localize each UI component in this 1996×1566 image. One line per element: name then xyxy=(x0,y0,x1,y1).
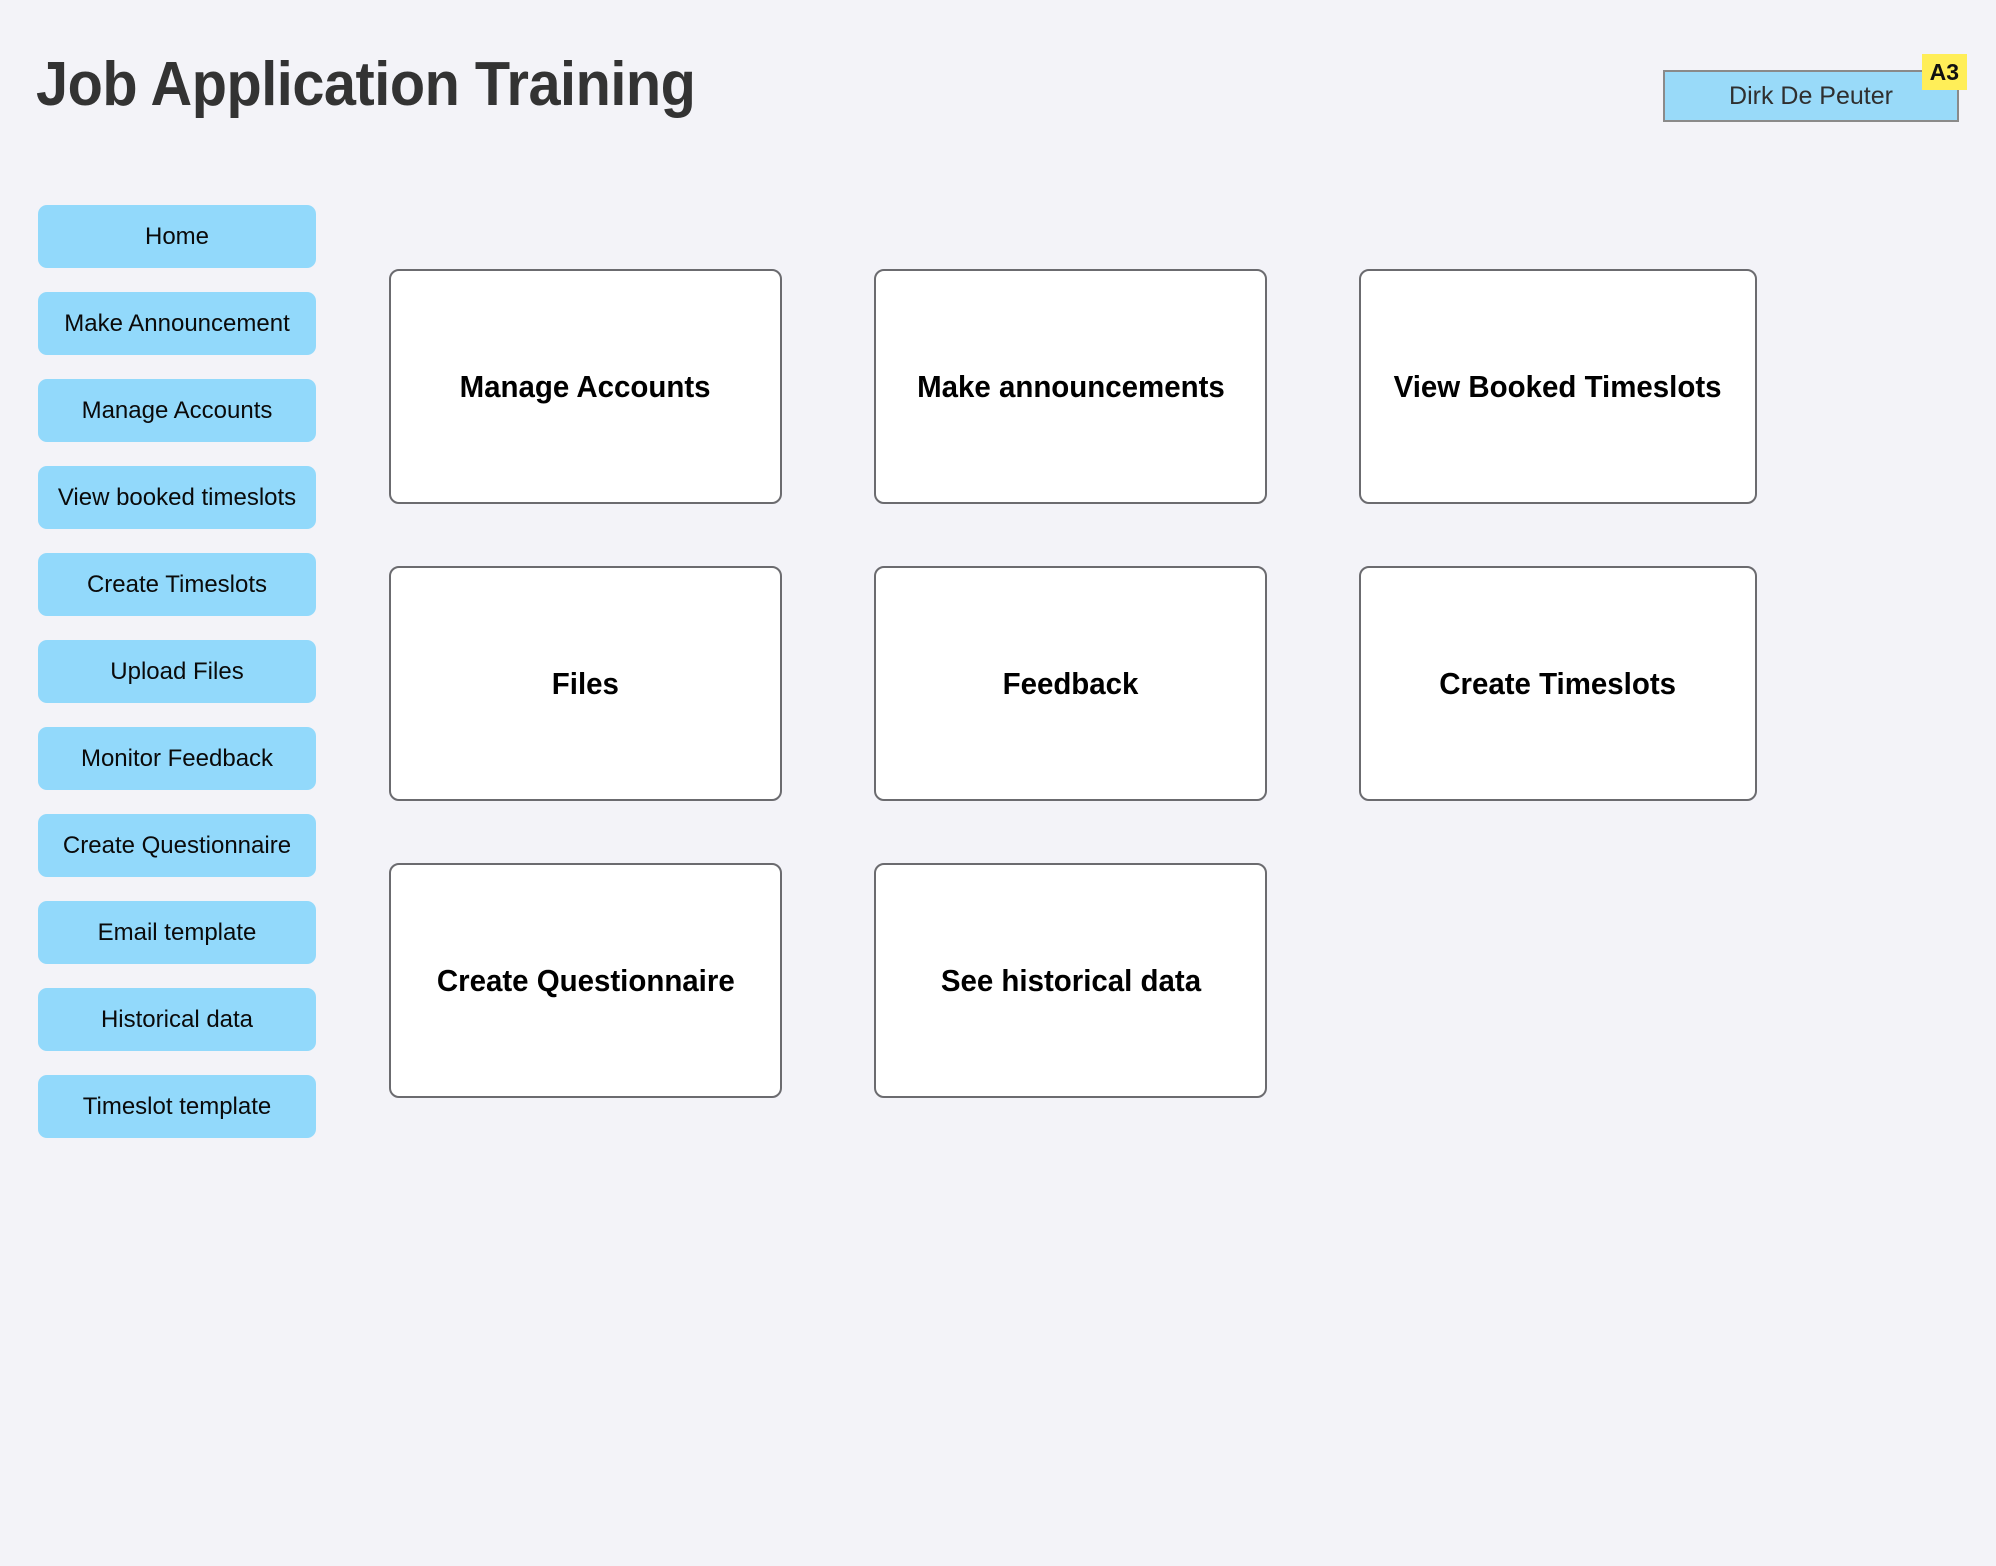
card-files[interactable]: Files xyxy=(389,566,782,801)
user-account-button[interactable]: Dirk De Peuter xyxy=(1663,70,1959,122)
sidebar-item-label: Create Timeslots xyxy=(87,573,267,597)
card-feedback[interactable]: Feedback xyxy=(874,566,1267,801)
sidebar-item-view-booked-timeslots[interactable]: View booked timeslots xyxy=(38,466,316,529)
sidebar-item-label: Make Announcement xyxy=(64,312,289,336)
sidebar-nav: Home Make Announcement Manage Accounts V… xyxy=(38,205,316,1138)
sidebar-item-label: Upload Files xyxy=(110,660,243,684)
card-label: Manage Accounts xyxy=(460,369,711,405)
sidebar-item-label: View booked timeslots xyxy=(58,486,296,510)
card-label: Make announcements xyxy=(917,369,1225,405)
sidebar-item-upload-files[interactable]: Upload Files xyxy=(38,640,316,703)
sidebar-item-label: Email template xyxy=(98,921,257,945)
card-create-questionnaire[interactable]: Create Questionnaire xyxy=(389,863,782,1098)
card-see-historical-data[interactable]: See historical data xyxy=(874,863,1267,1098)
sidebar-item-label: Create Questionnaire xyxy=(63,834,291,858)
user-name-label: Dirk De Peuter xyxy=(1729,82,1893,111)
card-view-booked-timeslots[interactable]: View Booked Timeslots xyxy=(1359,269,1757,504)
sidebar-item-create-questionnaire[interactable]: Create Questionnaire xyxy=(38,814,316,877)
sidebar-item-make-announcement[interactable]: Make Announcement xyxy=(38,292,316,355)
sidebar-item-timeslot-template[interactable]: Timeslot template xyxy=(38,1075,316,1138)
sidebar-item-label: Historical data xyxy=(101,1008,253,1032)
card-label: Files xyxy=(552,666,619,702)
sidebar-item-label: Timeslot template xyxy=(83,1095,272,1119)
sidebar-item-manage-accounts[interactable]: Manage Accounts xyxy=(38,379,316,442)
card-make-announcements[interactable]: Make announcements xyxy=(874,269,1267,504)
card-label: Create Questionnaire xyxy=(437,963,735,999)
sidebar-item-historical-data[interactable]: Historical data xyxy=(38,988,316,1051)
card-label: View Booked Timeslots xyxy=(1394,369,1722,405)
card-create-timeslots[interactable]: Create Timeslots xyxy=(1359,566,1757,801)
sidebar-item-home[interactable]: Home xyxy=(38,205,316,268)
sidebar-item-create-timeslots[interactable]: Create Timeslots xyxy=(38,553,316,616)
page-header: Job Application Training Dirk De Peuter … xyxy=(0,0,1996,150)
sidebar-item-label: Manage Accounts xyxy=(82,399,273,423)
sidebar-item-email-template[interactable]: Email template xyxy=(38,901,316,964)
user-badge-container: Dirk De Peuter A3 xyxy=(1663,70,1959,122)
page-title: Job Application Training xyxy=(36,52,695,118)
sidebar-item-label: Monitor Feedback xyxy=(81,747,273,771)
sidebar-item-label: Home xyxy=(145,225,209,249)
card-label: See historical data xyxy=(940,963,1200,999)
card-label: Create Timeslots xyxy=(1440,666,1677,702)
dashboard-card-grid: Manage Accounts Make announcements View … xyxy=(389,269,1789,1098)
card-manage-accounts[interactable]: Manage Accounts xyxy=(389,269,782,504)
sidebar-item-monitor-feedback[interactable]: Monitor Feedback xyxy=(38,727,316,790)
annotation-tag-a3: A3 xyxy=(1922,54,1967,90)
card-label: Feedback xyxy=(1003,666,1139,702)
